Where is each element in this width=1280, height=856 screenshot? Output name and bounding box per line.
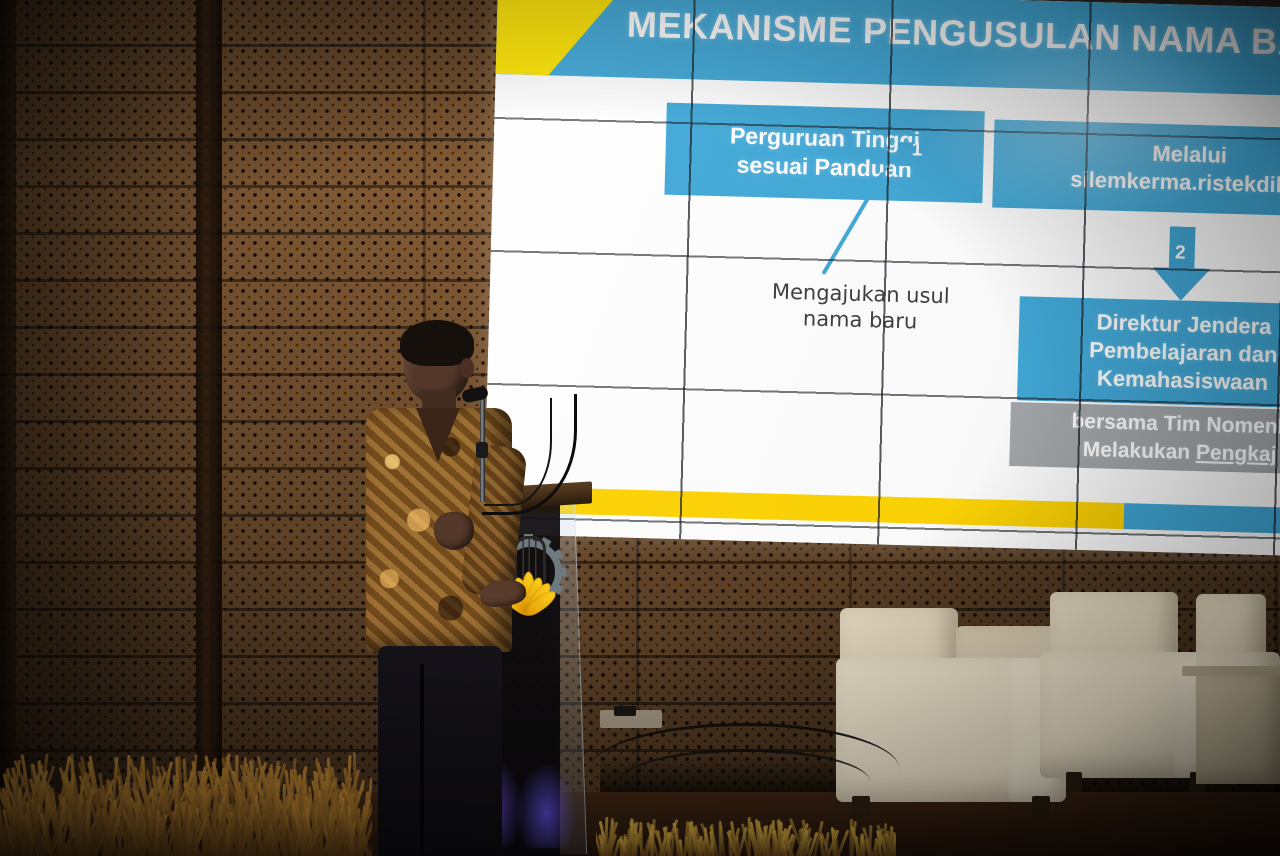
slide-box-tim-nomenklatur: bersama Tim Nomenk Melakukan Pengkaj (1009, 402, 1280, 475)
box-line-3: Kemahasiswaan (1088, 364, 1277, 397)
slide-header-yellow-accent (488, 0, 622, 77)
decorative-plants-center (596, 808, 896, 856)
microphone-clip (476, 442, 488, 458)
wall-column-far-left (0, 0, 16, 856)
decorative-plants-left (0, 736, 372, 856)
slide-footer-blue-band (1124, 503, 1280, 533)
speaker-hand-on-chest (434, 512, 474, 550)
side-table-top (1182, 666, 1280, 676)
slide: MEKANISME PENGUSULAN NAMA BAR Perguruan … (483, 0, 1280, 555)
speaker-leg-separation (420, 664, 424, 856)
speaker-ear (460, 358, 474, 378)
speaker-trousers (378, 646, 502, 856)
photo-canvas: MEKANISME PENGUSULAN NAMA BAR Perguruan … (0, 0, 1280, 856)
box-line-2-underlined: Pengkaj (1196, 441, 1277, 466)
box-line-2: sesuai Panduan (729, 150, 920, 185)
side-table (1196, 676, 1280, 784)
box-line-2-prefix: Melakukan (1082, 438, 1196, 464)
presentation-screen: MEKANISME PENGUSULAN NAMA BAR Perguruan … (483, 0, 1280, 555)
slide-box-melalui-silemkerma: Melalui silemkerma.ristekdikti. (992, 119, 1280, 218)
stage-device-box-small (614, 706, 636, 716)
arrow-2-number: 2 (1175, 242, 1186, 264)
arrow-1-number: 1 (911, 139, 922, 161)
box-line-2: Melakukan Pengkaj (1017, 434, 1280, 471)
microphone (462, 386, 522, 516)
wall-column-left (196, 0, 222, 856)
slide-box-direktur-jenderal: Direktur Jendera Pembelajaran dan Kemaha… (1017, 296, 1280, 409)
slide-callout-caption: Mengajukan usul nama baru (735, 279, 986, 337)
box-line-2: silemkerma.ristekdikti. (1070, 166, 1280, 201)
